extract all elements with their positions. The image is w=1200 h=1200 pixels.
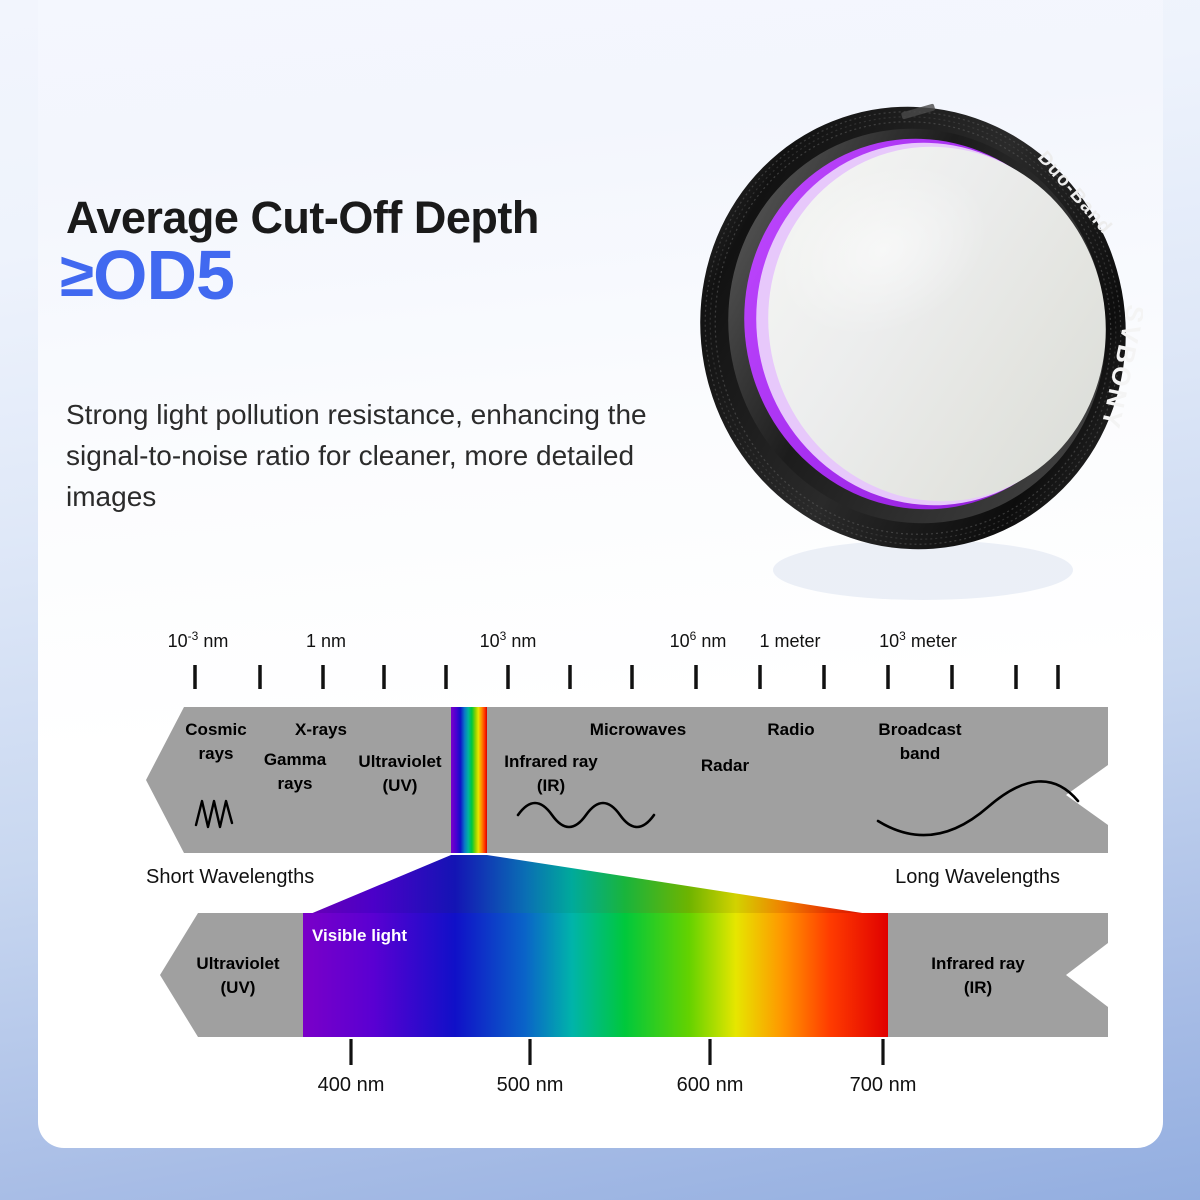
axis-label-4: 1 meter (759, 631, 820, 651)
label-infrared-2: (IR) (537, 776, 565, 795)
label-microwaves: Microwaves (590, 720, 686, 739)
tick-label-400: 400 nm (318, 1074, 385, 1096)
tick-label-700: 700 nm (850, 1074, 917, 1096)
label-cosmic-rays-1: Cosmic (185, 720, 246, 739)
label-ultraviolet-1: Ultraviolet (358, 752, 441, 771)
label-infrared-1: Infrared ray (504, 752, 598, 771)
visible-light-label: Visible light (312, 926, 407, 945)
short-wavelengths-label: Short Wavelengths (146, 866, 314, 888)
spectrum-fan (303, 855, 888, 917)
axis-label-2: 103 nm (480, 629, 537, 651)
visible-slice (451, 707, 487, 853)
od-value: ≥OD5 (60, 240, 234, 310)
description-text: Strong light pollution resistance, enhan… (66, 395, 706, 518)
axis-label-3: 106 nm (670, 629, 727, 651)
label-lower-uv-1: Ultraviolet (196, 954, 279, 973)
axis-label-1: 1 nm (306, 631, 346, 651)
label-broadcast-1: Broadcast (878, 720, 961, 739)
product-photo: SVBONY Duo-Band (683, 100, 1143, 620)
tick-label-600: 600 nm (677, 1074, 744, 1096)
upper-axis-labels: 10-3 nm 1 nm 103 nm 106 nm 1 meter 103 m… (168, 629, 957, 651)
spectrum-diagram: 10-3 nm 1 nm 103 nm 106 nm 1 meter 103 m… (98, 625, 1108, 1115)
label-lower-ir-1: Infrared ray (931, 954, 1025, 973)
label-radar: Radar (701, 756, 750, 775)
wavelength-tick-labels: 400 nm 500 nm 600 nm 700 nm (318, 1074, 917, 1096)
greater-equal-symbol: ≥ (60, 241, 93, 310)
axis-label-5: 103 meter (879, 629, 957, 651)
label-lower-uv-2: (UV) (221, 978, 256, 997)
tick-label-500: 500 nm (497, 1074, 564, 1096)
label-xrays: X-rays (295, 720, 347, 739)
label-radio: Radio (767, 720, 814, 739)
label-lower-ir-2: (IR) (964, 978, 992, 997)
label-broadcast-2: band (900, 744, 941, 763)
long-wavelengths-label: Long Wavelengths (895, 866, 1060, 888)
label-gamma-rays-2: rays (278, 774, 313, 793)
wavelength-ticks (351, 1039, 883, 1065)
axis-label-0: 10-3 nm (168, 629, 229, 651)
upper-axis-ticks (195, 665, 1058, 689)
label-ultraviolet-2: (UV) (383, 776, 418, 795)
od-value-text: OD5 (93, 236, 234, 314)
label-gamma-rays-1: Gamma (264, 750, 327, 769)
content-card: Average Cut-Off Depth ≥OD5 Strong light … (38, 0, 1163, 1148)
page-root: Average Cut-Off Depth ≥OD5 Strong light … (0, 0, 1200, 1200)
label-cosmic-rays-2: rays (199, 744, 234, 763)
